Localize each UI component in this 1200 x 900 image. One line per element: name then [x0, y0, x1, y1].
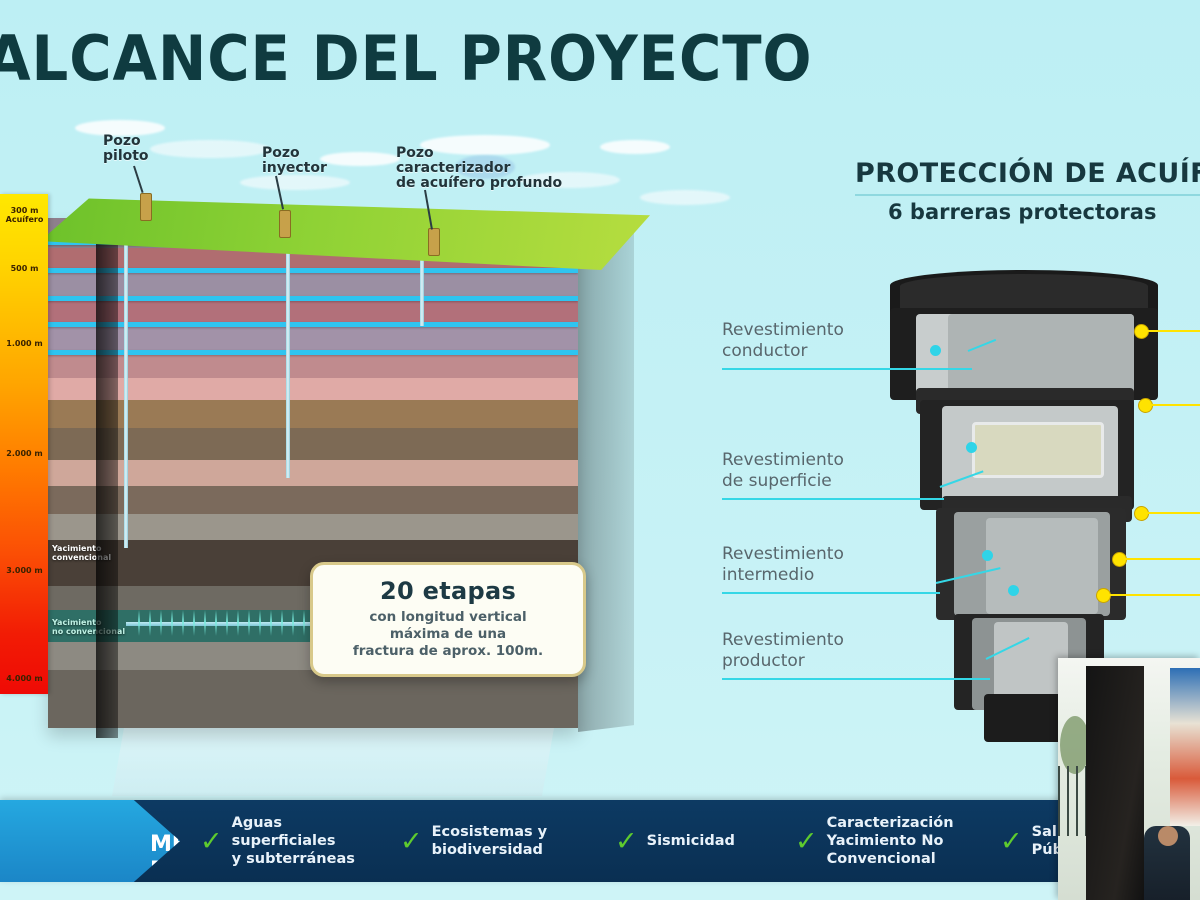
label-revestimiento-conductor: Revestimiento conductor	[722, 320, 844, 362]
strata-layer	[48, 670, 578, 728]
strata-label-line1: Yacimiento	[52, 618, 101, 627]
wellhead-caracterizador	[428, 228, 440, 256]
mitigation-item-label: Caracterización Yacimiento No Convencion…	[827, 814, 954, 868]
item-line2: Yacimiento No	[827, 833, 944, 849]
casing-label-line2: productor	[722, 651, 805, 671]
mitigation-item-label: Sismicidad	[647, 832, 735, 850]
depth-tick: 2.000 m	[4, 449, 45, 458]
block-front-face	[96, 214, 118, 738]
cloud-icon	[320, 152, 400, 166]
mitigation-item-caracterizacion[interactable]: ✓ Caracterización Yacimiento No Convenci…	[795, 800, 954, 882]
label-leader-conductor	[722, 368, 972, 370]
inset-poster	[1170, 668, 1200, 826]
well-pipe-inyector	[286, 218, 290, 478]
mitigation-item-ecosistemas[interactable]: ✓ Ecosistemas y biodiversidad	[400, 800, 547, 882]
callout-headline: 20 etapas	[323, 577, 573, 605]
check-icon: ✓	[795, 828, 818, 855]
label-leader-productor	[722, 678, 990, 680]
casing-tail	[984, 694, 1068, 742]
depth-tick: 4.000 m	[4, 674, 45, 683]
casing-label-line2: conductor	[722, 341, 808, 361]
aquifer-panel-title: PROTECCIÓN DE ACUÍFEROS	[855, 158, 1200, 189]
depth-tick-value: 4.000 m	[6, 674, 42, 683]
barrier-line	[1146, 512, 1200, 514]
depth-tick: 300 m Acuífero	[4, 206, 45, 224]
casing-label-line1: Revestimiento	[722, 544, 844, 564]
cloud-icon	[150, 140, 270, 158]
video-inset-overlay[interactable]	[1058, 658, 1200, 900]
casing-label-line2: de superficie	[722, 471, 832, 491]
item-line2: superficiales	[232, 833, 336, 849]
item-line1: Caracterización	[827, 815, 954, 831]
barrier-line	[1146, 330, 1200, 332]
cloud-icon	[600, 140, 670, 154]
well-label-line2: piloto	[103, 148, 149, 164]
callout-line2: máxima de una	[390, 626, 506, 642]
label-revestimiento-productor: Revestimiento productor	[722, 630, 844, 672]
infographic-stage: ALCANCE DEL PROYECTO	[0, 0, 1200, 900]
wellhead-piloto	[140, 193, 152, 221]
cross-section-diagram: Yacimiento convencional Yacimiento no co…	[0, 180, 680, 780]
casing-label-line1: Revestimiento	[722, 630, 844, 650]
label-leader-superficie	[722, 498, 944, 500]
well-label-inyector: Pozo inyector	[262, 146, 327, 176]
mitigation-item-label: Ecosistemas y biodiversidad	[432, 823, 547, 859]
check-icon: ✓	[400, 828, 423, 855]
depth-tick-value: 300 m	[11, 206, 39, 215]
barrier-line	[1150, 404, 1200, 406]
casing-label-line1: Revestimiento	[722, 320, 844, 340]
well-label-line3: de acuífero profundo	[396, 175, 562, 191]
page-title: ALCANCE DEL PROYECTO	[0, 22, 812, 95]
block-side-face	[578, 225, 634, 732]
well-label-line1: Pozo	[103, 133, 141, 149]
label-revestimiento-superficie: Revestimiento de superficie	[722, 450, 844, 492]
strata-label-line1: Yacimiento	[52, 544, 101, 553]
depth-tick-value: 1.000 m	[6, 339, 42, 348]
inset-curtain	[1086, 666, 1144, 900]
casing-label-line2: intermedio	[722, 565, 814, 585]
casing-dot-conductor	[930, 345, 941, 356]
depth-tick: 1.000 m	[4, 339, 45, 348]
wellhead-inyector	[279, 210, 291, 238]
aquifer-panel-subtitle: 6 barreras protectoras	[888, 200, 1156, 224]
casing-dot-intermedio	[982, 550, 993, 561]
well-label-line1: Pozo	[262, 145, 300, 161]
depth-tick: 3.000 m	[4, 566, 45, 575]
well-pipe-piloto	[124, 218, 128, 548]
barrier-line	[1108, 594, 1200, 596]
check-icon: ✓	[1000, 828, 1023, 855]
callout-line3: fractura de aprox. 100m.	[353, 643, 543, 659]
item-line1: Aguas	[232, 815, 282, 831]
well-label-caracterizador: Pozo caracterizador de acuífero profundo	[396, 146, 562, 191]
casing-dot-superficie	[966, 442, 977, 453]
depth-tick-value: 3.000 m	[6, 566, 42, 575]
mitigation-item-sismicidad[interactable]: ✓ Sismicidad	[615, 800, 735, 882]
well-label-line2: inyector	[262, 160, 327, 176]
mitigation-item-label: Aguas superficiales y subterráneas	[232, 814, 355, 868]
well-label-line1: Pozo	[396, 145, 434, 161]
item-line3: Convencional	[827, 851, 936, 867]
depth-tick: 500 m	[4, 264, 45, 273]
label-leader-intermedio	[722, 592, 940, 594]
item-line1: Ecosistemas y	[432, 824, 547, 840]
etapas-callout: 20 etapas con longitud vertical máxima d…	[310, 562, 586, 677]
item-line2: biodiversidad	[432, 842, 543, 858]
inset-person-head	[1158, 826, 1178, 846]
callout-body: con longitud vertical máxima de una frac…	[323, 609, 573, 660]
casing-conductor-shadow	[948, 314, 1134, 394]
title-divider	[855, 194, 1200, 196]
well-label-piloto: Pozo piloto	[103, 134, 149, 164]
casing-intermedio-inner	[986, 518, 1098, 614]
depth-tick-value: 2.000 m	[6, 449, 42, 458]
block-pedestal	[112, 728, 554, 796]
barrier-line	[1124, 558, 1200, 560]
casing-label-line1: Revestimiento	[722, 450, 844, 470]
depth-tick-value: 500 m	[11, 264, 39, 273]
depth-scale: 300 m Acuífero 500 m 1.000 m 2.000 m 3.0…	[0, 194, 48, 694]
depth-tick-sub: Acuífero	[6, 215, 44, 224]
label-revestimiento-intermedio: Revestimiento intermedio	[722, 544, 844, 586]
check-icon: ✓	[615, 828, 638, 855]
item-line3: y subterráneas	[232, 851, 355, 867]
casing-dot-productor	[1008, 585, 1019, 596]
callout-line1: con longitud vertical	[369, 609, 526, 625]
mitigation-item-aguas[interactable]: ✓ Aguas superficiales y subterráneas	[200, 800, 355, 882]
casing-window	[972, 422, 1104, 478]
check-icon: ✓	[200, 828, 223, 855]
well-label-line2: caracterizador	[396, 160, 510, 176]
